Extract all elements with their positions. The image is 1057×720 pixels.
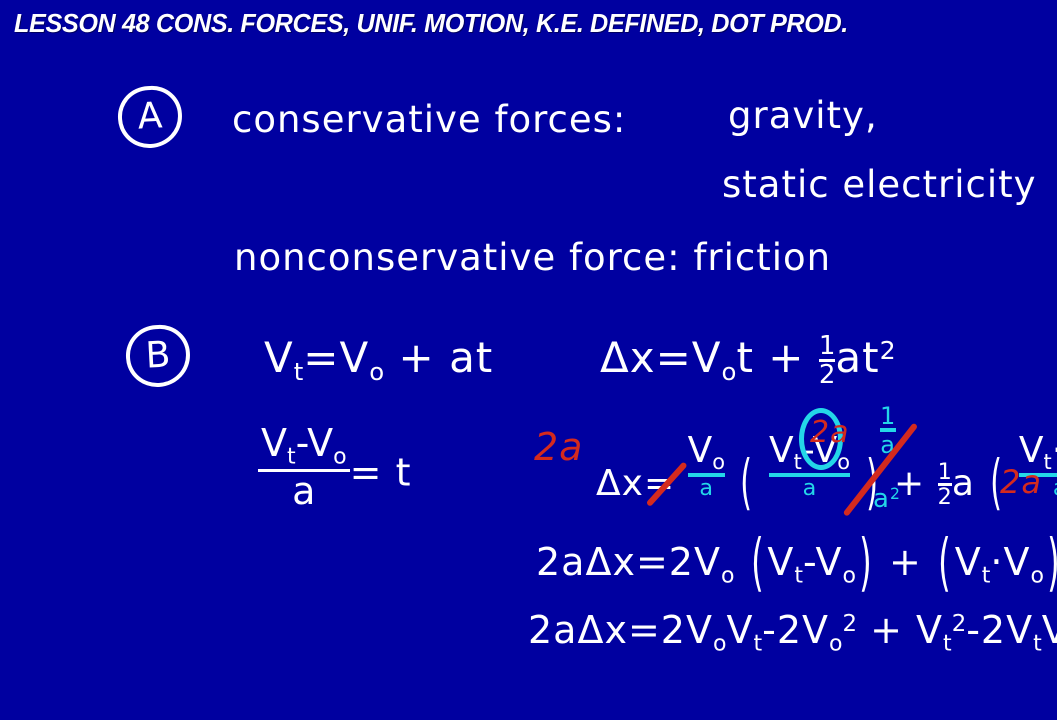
solve-t-equals: =: [350, 451, 383, 495]
l5-vt-sub: t: [794, 563, 803, 588]
eq-vt-v: V: [264, 333, 294, 382]
l5-v0-sub: o: [721, 563, 734, 588]
l5-two: 2: [669, 540, 694, 584]
text-conservative-forces: conservative forces:: [232, 98, 626, 141]
big-inner2-vt-sub: t: [1044, 450, 1052, 474]
l6-minus-1: -: [762, 608, 777, 652]
eq-dx-half-denominator: 2: [819, 359, 836, 388]
cyan-a-squared-base: a: [873, 484, 890, 514]
l6-vt3: V: [1006, 608, 1033, 652]
l6-lead: 2a: [528, 608, 577, 652]
eq-vt-v0: V: [340, 333, 370, 382]
equation-expanded-1: 2aΔx=2Vo (Vt-Vo) + (Vt·Vo)2: [536, 540, 1057, 588]
l5-open-paren: (: [749, 526, 766, 599]
annotation-cyan-a-squared: a2: [873, 484, 900, 514]
big-cyan-denominator-2: a: [769, 477, 850, 499]
eq-dx-equals: =: [656, 333, 692, 382]
l5-v0c-sub: o: [1030, 563, 1043, 588]
solve-t-num-vt: V: [261, 421, 287, 465]
eq-vt-plus: +: [399, 333, 435, 382]
equation-solve-for-t: Vt-Vo a = t: [258, 424, 411, 511]
cyan-annotation-numerator: 1: [880, 402, 896, 430]
l5-close-paren: ): [858, 526, 875, 599]
equation-vt: Vt=Vo + at: [264, 333, 493, 386]
l6-v0c: V: [1042, 608, 1057, 652]
annotation-red-2a-prefix: 2a: [534, 425, 583, 469]
solve-t-num-vt-sub: t: [287, 444, 296, 469]
l6-plus: +: [870, 608, 903, 652]
solve-t-denominator: a: [258, 469, 350, 511]
l6-minus-2: -: [966, 608, 981, 652]
l5-v0: V: [694, 540, 721, 584]
eq-dx-at: at: [835, 333, 879, 382]
l5-equals: =: [636, 540, 669, 584]
big-half-numerator: 1: [938, 461, 952, 483]
l6-vt2: V: [916, 608, 943, 652]
l6-exponent-b: 2: [952, 611, 967, 637]
l6-v0-sub: o: [713, 631, 726, 656]
solve-t-fraction: Vt-Vo a: [258, 424, 350, 511]
big-a-term: a: [952, 463, 975, 504]
big-half-denominator: 2: [938, 483, 952, 508]
l6-v0b: V: [802, 608, 829, 652]
text-gravity: gravity,: [728, 94, 878, 137]
annotation-red-2a-circled: 2a: [810, 415, 849, 450]
l5-v0c: V: [1003, 540, 1030, 584]
annotation-red-2a-suffix: 2a: [1000, 463, 1042, 501]
big-deltax: Δx: [596, 463, 644, 504]
l5-dot: ·: [990, 540, 1003, 584]
section-marker-a: A: [116, 84, 183, 149]
l5-v0b-sub: o: [843, 563, 856, 588]
eq-dx-one-half: 1 2: [819, 333, 836, 388]
equation-deltax: Δx=Vot + 1 2 at2: [600, 333, 896, 388]
text-nonconservative-friction: nonconservative force: friction: [234, 236, 831, 279]
l5-deltax: Δx: [585, 540, 635, 584]
l6-vt-sub: t: [753, 631, 762, 656]
eq-vt-subscript-t: t: [294, 357, 304, 386]
big-inner-vt: V: [769, 430, 794, 471]
equation-expanded-2: 2aΔx=2VoVt-2Vo2 + Vt2-2VtVo+Vo2: [528, 608, 1057, 656]
l5-open-paren-2: (: [936, 526, 953, 599]
eq-dx-v0: V: [692, 333, 722, 382]
big-v0-over-a: Vo a: [688, 430, 725, 499]
eq-dx-t: t: [736, 333, 753, 382]
eq-vt-subscript-0: o: [369, 357, 384, 386]
l5-vt: V: [767, 540, 794, 584]
l5-minus: -: [803, 540, 816, 584]
solve-t-numerator: Vt-Vo: [258, 424, 350, 469]
l6-v0: V: [686, 608, 713, 652]
big-inner-vt-sub: t: [794, 450, 802, 474]
l5-close-paren-2: ): [1045, 526, 1057, 599]
solve-t-minus: -: [296, 421, 308, 465]
section-marker-b: B: [124, 323, 191, 388]
lecture-slide: LESSON 48 CONS. FORCES, UNIF. MOTION, K.…: [0, 0, 1057, 720]
big-v0-sub: o: [712, 450, 725, 474]
big-v0: V: [688, 430, 713, 471]
big-one-half: 1 2: [938, 461, 952, 509]
text-static-electricity: static electricity: [722, 163, 1037, 206]
l5-vt2: V: [955, 540, 982, 584]
l5-v0b: V: [816, 540, 843, 584]
eq-vt-equals: =: [303, 333, 339, 382]
big-cyan-denominator-1: a: [688, 477, 725, 499]
l6-equals: =: [628, 608, 661, 652]
page-title: LESSON 48 CONS. FORCES, UNIF. MOTION, K.…: [14, 8, 1013, 42]
l6-vt2-sub: t: [943, 631, 952, 656]
l6-two-3: 2: [981, 608, 1006, 652]
solve-t-result: t: [396, 451, 412, 495]
l5-lead: 2a: [536, 540, 585, 584]
l6-exponent-a: 2: [843, 611, 858, 637]
l5-plus: +: [889, 540, 922, 584]
l6-deltax: Δx: [577, 608, 627, 652]
eq-dx-subscript-0: o: [722, 357, 737, 386]
eq-vt-at: at: [449, 333, 493, 382]
l6-v0b-sub: o: [829, 631, 842, 656]
l6-two: 2: [661, 608, 686, 652]
eq-dx-plus: +: [768, 333, 804, 382]
big-inner2-dot: ·: [1052, 430, 1057, 471]
eq-dx-exponent-2: 2: [880, 336, 896, 365]
big-v0-top: Vo: [688, 430, 725, 474]
solve-t-num-v0-sub: o: [333, 444, 346, 469]
eq-dx-deltax: Δx: [600, 333, 656, 382]
l6-vt3-sub: t: [1033, 631, 1042, 656]
l6-vt: V: [726, 608, 753, 652]
solve-t-num-v0: V: [307, 421, 333, 465]
big-open-paren: (: [739, 450, 755, 518]
l6-two-2: 2: [777, 608, 802, 652]
eq-dx-half-numerator: 1: [819, 333, 836, 359]
cyan-a-squared-exponent: 2: [890, 485, 900, 503]
